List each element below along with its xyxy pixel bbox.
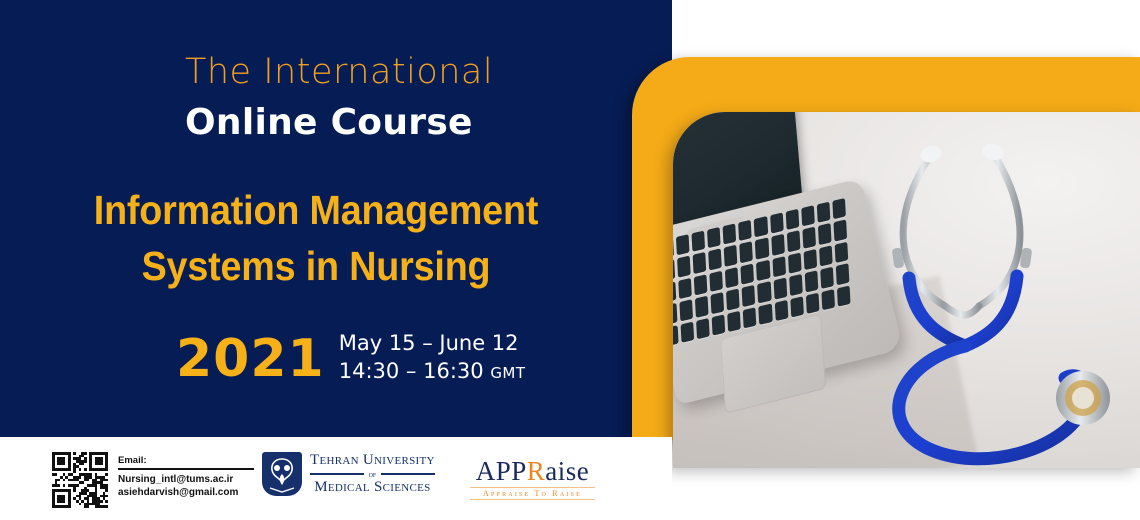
appraise-logo: APPRaise Appraise To Raise [470, 456, 595, 500]
university-connector-row: of [310, 469, 435, 479]
appraise-wordmark: APPRaise [470, 456, 595, 486]
date-block: 2021 May 15 – June 12 14:30 – 16:30 GMT [176, 330, 526, 388]
university-line-1: Tehran University [310, 452, 435, 469]
email-heading: Email: [118, 455, 258, 468]
university-line-2: Medical Sciences [314, 479, 430, 496]
appraise-tagline: Appraise To Raise [470, 487, 595, 500]
university-name: Tehran University of Medical Sciences [310, 452, 435, 496]
kicker-line-2: Online Course [185, 102, 473, 143]
qr-code[interactable] [52, 452, 108, 508]
email-divider [118, 468, 254, 470]
appraise-part-2: aise [545, 456, 589, 486]
time-range-row: 14:30 – 16:30 GMT [339, 358, 526, 386]
email-address-2[interactable]: asiehdarvish@gmail.com [118, 486, 258, 499]
promotional-banner: The International Online Course Informat… [0, 0, 1140, 520]
year-label: 2021 [176, 333, 325, 385]
kicker-line-1: The International [185, 52, 493, 92]
appraise-part-1: APP [476, 456, 527, 486]
stethoscope-illustration [869, 130, 1139, 460]
time-range: 14:30 – 16:30 [339, 359, 484, 383]
page-title: Information Management Systems in Nursin… [0, 182, 632, 294]
contact-email-block: Email: Nursing_intl@tums.ac.ir asiehdarv… [118, 455, 258, 499]
rule-right [381, 473, 435, 475]
title-line-2: Systems in Nursing [25, 238, 606, 294]
email-address-1[interactable]: Nursing_intl@tums.ac.ir [118, 473, 258, 486]
timezone-label: GMT [490, 364, 525, 382]
title-line-1: Information Management [25, 182, 606, 238]
university-connector: of [369, 469, 377, 479]
date-detail-lines: May 15 – June 12 14:30 – 16:30 GMT [339, 330, 526, 388]
hero-photo [673, 112, 1140, 468]
university-emblem-icon [262, 452, 302, 496]
rule-left [310, 473, 364, 475]
date-range: May 15 – June 12 [339, 330, 526, 356]
appraise-r-glyph: R [527, 456, 546, 486]
tehran-university-logo: Tehran University of Medical Sciences [262, 452, 435, 496]
